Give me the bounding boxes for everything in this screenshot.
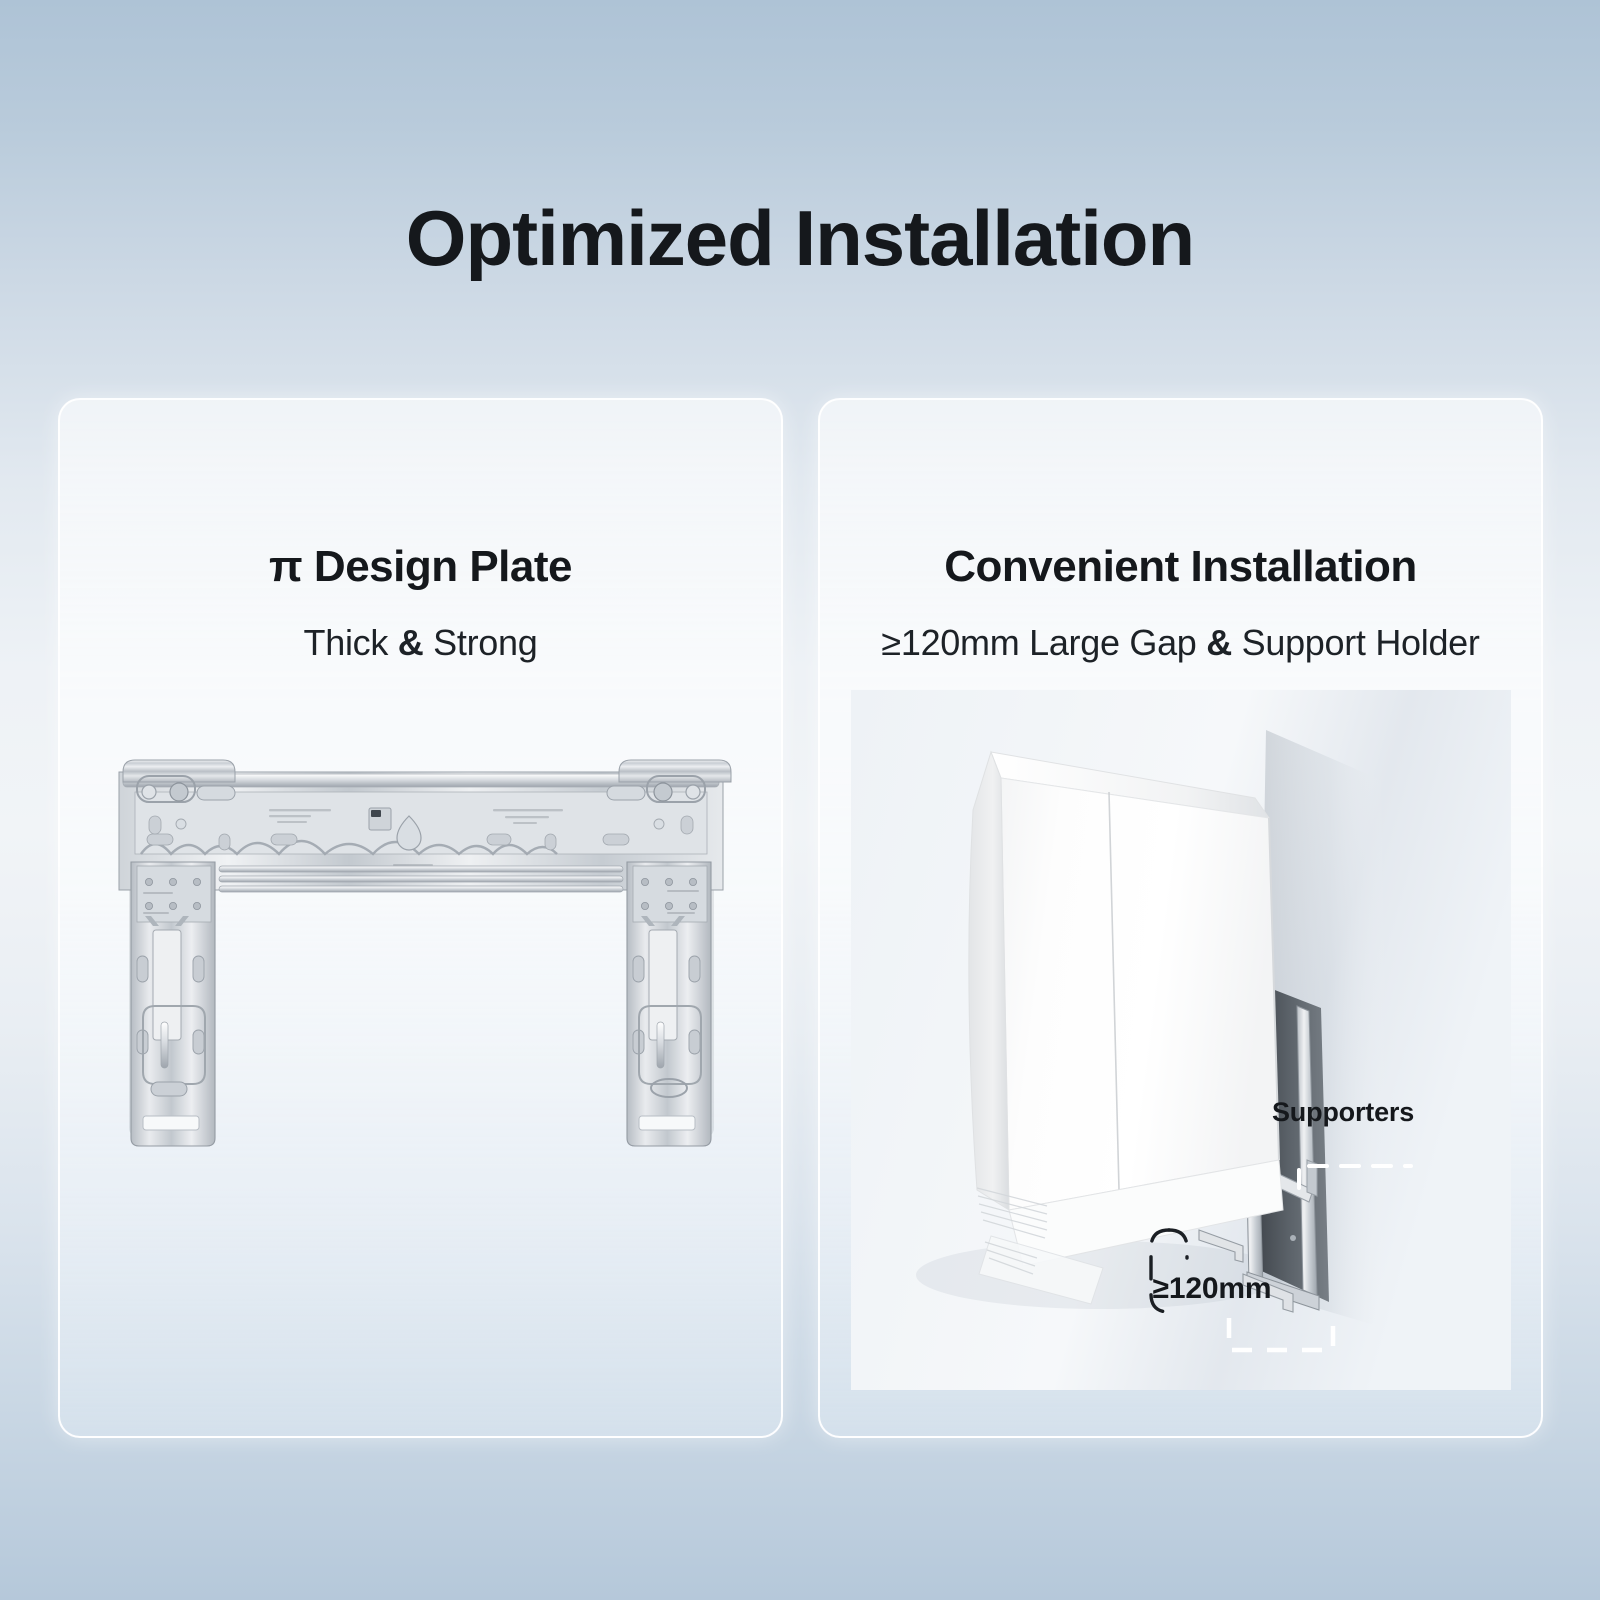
card-heading-right: Convenient Installation xyxy=(820,542,1541,592)
card-subtitle-left-post: Strong xyxy=(423,622,537,663)
card-pi-design-plate: π Design Plate Thick & Strong xyxy=(58,398,783,1438)
feature-cards: π Design Plate Thick & Strong xyxy=(58,398,1543,1438)
page-title: Optimized Installation xyxy=(0,196,1600,282)
card-subtitle-left-pre: Thick xyxy=(304,622,398,663)
supporters-annotation-label: Supporters xyxy=(1272,1097,1414,1128)
card-subtitle-right-amp: & xyxy=(1206,622,1232,663)
plate-stage xyxy=(60,730,781,1180)
pi-design-mounting-plate-image xyxy=(101,730,741,1150)
gap-dimension-label: ≥120mm xyxy=(1150,1272,1274,1306)
card-heading-left: π Design Plate xyxy=(60,542,781,592)
plate-leg-right xyxy=(627,862,711,1146)
card-subtitle-left-amp: & xyxy=(398,622,424,663)
card-subtitle-right: ≥120mm Large Gap & Support Holder xyxy=(820,622,1541,664)
plate-stiffening-ribs xyxy=(219,866,623,892)
card-subtitle-left: Thick & Strong xyxy=(60,622,781,664)
plate-leg-left xyxy=(131,862,215,1146)
card-subtitle-right-pre: ≥120mm Large Gap xyxy=(881,622,1206,663)
card-subtitle-right-post: Support Holder xyxy=(1232,622,1480,663)
